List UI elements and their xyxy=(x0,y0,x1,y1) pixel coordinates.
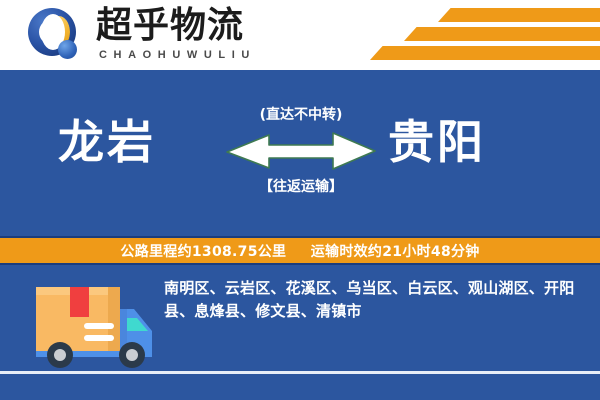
route-info-bar: 公路里程约1308.75公里 运输时效约21小时48分钟 xyxy=(0,236,600,265)
destination-city: 贵阳 xyxy=(388,116,486,168)
banner-header: 超乎物流 CHAOHUWULIU xyxy=(0,0,600,70)
route-arrow-block: (直达不中转) 【往返运输】 xyxy=(225,104,377,208)
brand-name-cn: 超乎物流 xyxy=(96,5,244,47)
duration-value: 运输时效约21小时48分钟 xyxy=(311,244,480,260)
logistics-route-banner: 超乎物流 CHAOHUWULIU 龙岩 (直达不中转) 【往返运输】 贵阳 公路… xyxy=(0,0,600,400)
route-note-direct: (直达不中转) xyxy=(225,104,377,124)
decorative-stripes xyxy=(340,6,600,64)
logo-dot-shape xyxy=(58,40,77,59)
stripe-2 xyxy=(404,27,600,41)
origin-city: 龙岩 xyxy=(58,116,156,168)
distance-value: 公路里程约1308.75公里 xyxy=(120,244,286,260)
delivery-truck-icon xyxy=(14,273,162,373)
stripe-3 xyxy=(370,46,600,60)
route-info-text: 公路里程约1308.75公里 运输时效约21小时48分钟 xyxy=(120,241,479,261)
brand-name-en: CHAOHUWULIU xyxy=(99,49,256,61)
stripe-1 xyxy=(438,8,600,22)
chaohu-logistics-logo-icon xyxy=(28,8,84,64)
double-headed-arrow-icon xyxy=(225,130,377,170)
coverage-area-list: 南明区、云岩区、花溪区、乌当区、白云区、观山湖区、开阳县、息烽县、修文县、清镇市 xyxy=(164,277,588,323)
route-section: 龙岩 (直达不中转) 【往返运输】 贵阳 xyxy=(0,70,600,236)
route-note-roundtrip: 【往返运输】 xyxy=(225,176,377,196)
coverage-section: 南明区、云岩区、花溪区、乌当区、白云区、观山湖区、开阳县、息烽县、修文县、清镇市 xyxy=(0,265,600,400)
